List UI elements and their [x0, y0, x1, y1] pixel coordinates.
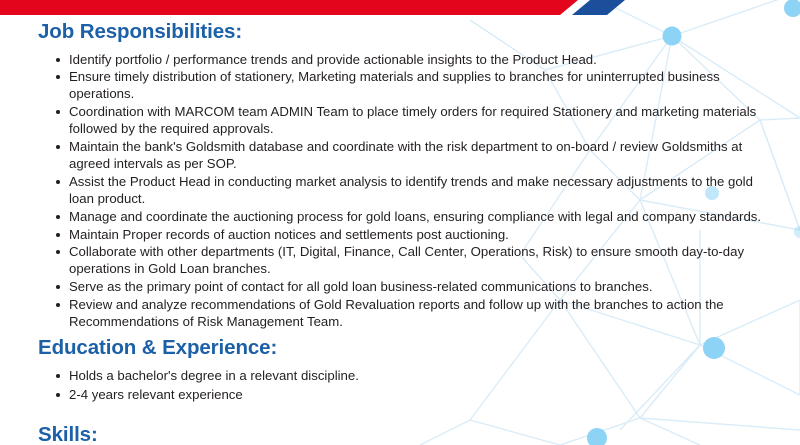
section-heading-education-experience: Education & Experience:	[38, 337, 800, 360]
section-skills: Skills:	[0, 424, 800, 445]
list-item: Coordination with MARCOM team ADMIN Team…	[56, 103, 769, 137]
section-education-experience: Education & Experience: Holds a bachelor…	[0, 337, 800, 405]
list-item: Manage and coordinate the auctioning pro…	[56, 208, 769, 225]
list-item: Collaborate with other departments (IT, …	[56, 243, 769, 277]
list-item: Identify portfolio / performance trends …	[56, 51, 769, 68]
education-experience-list: Holds a bachelor's degree in a relevant …	[0, 367, 800, 403]
job-description-page: Job Responsibilities: Identify portfolio…	[0, 0, 800, 445]
section-job-responsibilities: Job Responsibilities: Identify portfolio…	[0, 21, 800, 331]
list-item: Maintain Proper records of auction notic…	[56, 226, 769, 243]
section-heading-job-responsibilities: Job Responsibilities:	[38, 21, 800, 44]
list-item: 2-4 years relevant experience	[56, 386, 769, 403]
list-item: Serve as the primary point of contact fo…	[56, 278, 769, 295]
section-heading-skills: Skills:	[38, 424, 800, 445]
job-responsibilities-list: Identify portfolio / performance trends …	[0, 51, 800, 331]
document-content: Job Responsibilities: Identify portfolio…	[0, 0, 800, 445]
list-item: Review and analyze recommendations of Go…	[56, 296, 769, 330]
list-item: Assist the Product Head in conducting ma…	[56, 173, 769, 207]
list-item: Holds a bachelor's degree in a relevant …	[56, 367, 769, 384]
list-item: Maintain the bank's Goldsmith database a…	[56, 138, 769, 172]
list-item: Ensure timely distribution of stationery…	[56, 68, 769, 102]
